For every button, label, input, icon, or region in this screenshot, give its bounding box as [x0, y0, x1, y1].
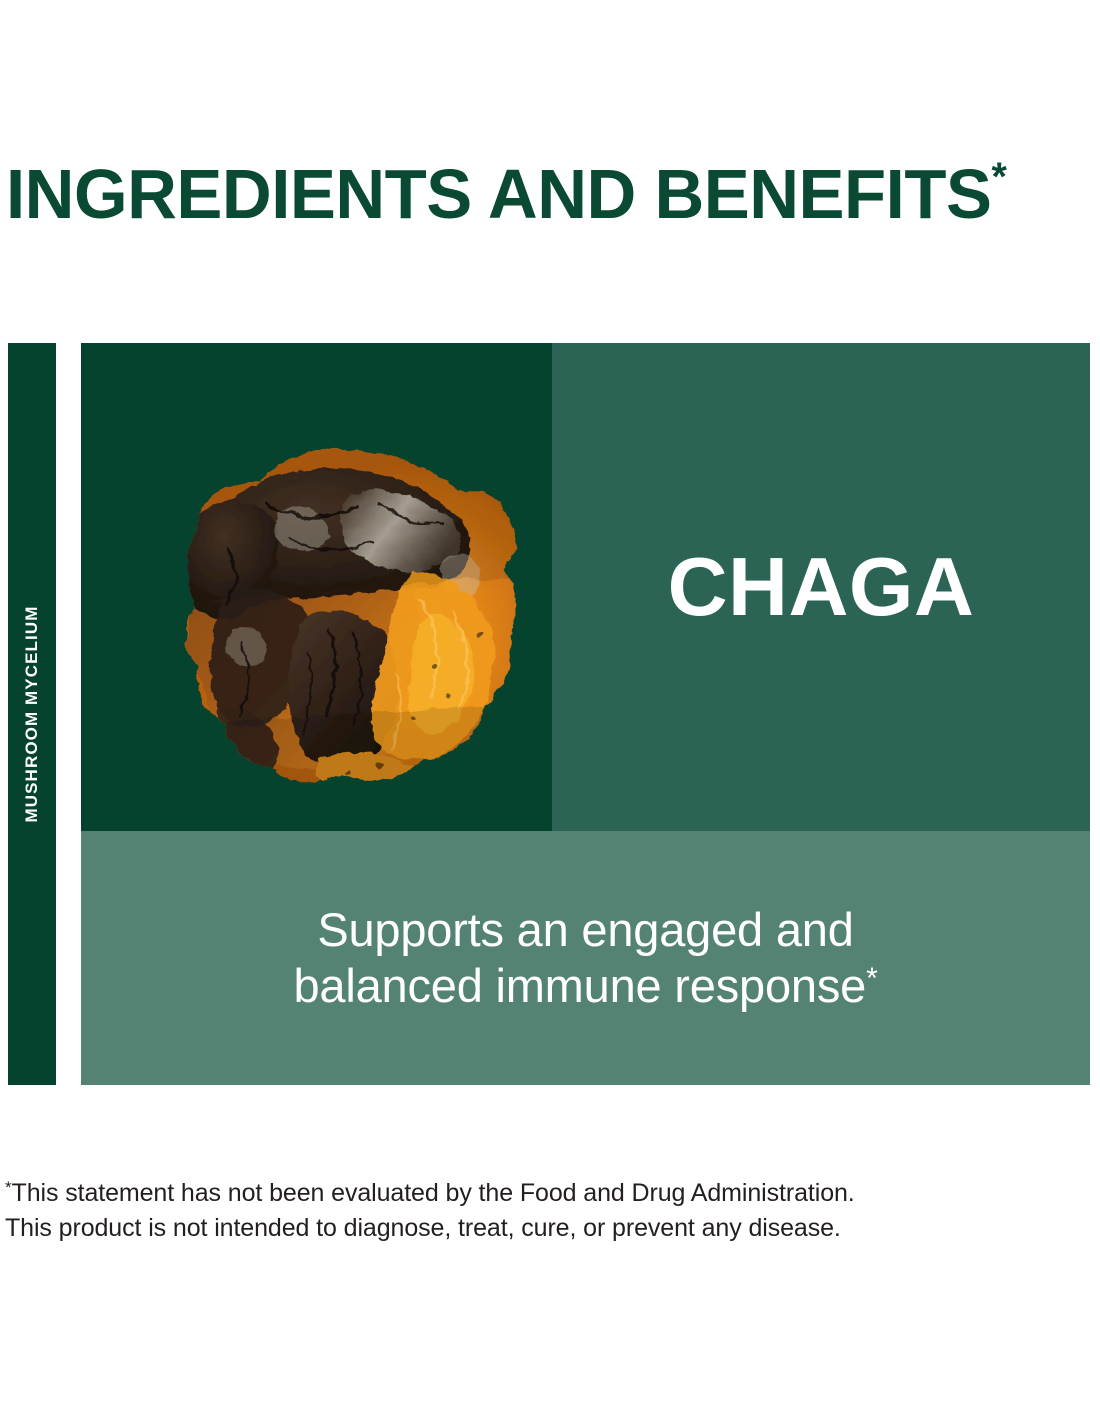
page-title: INGREDIENTS AND BENEFITS*	[6, 158, 1080, 238]
category-bar: MUSHROOM MYCELIUM	[8, 343, 56, 1085]
chaga-mushroom-photo	[81, 343, 552, 831]
legal-disclaimer-line-2: This product is not intended to diagnose…	[5, 1211, 1005, 1246]
legal-disclaimer: *This statement has not been evaluated b…	[5, 1176, 1005, 1246]
ingredient-benefit-asterisk: *	[866, 962, 877, 995]
page-title-text: INGREDIENTS AND BENEFITS	[6, 155, 991, 233]
category-bar-label: MUSHROOM MYCELIUM	[22, 605, 42, 822]
ingredient-benefit-text: Supports an engaged and balanced immune …	[196, 902, 976, 1014]
ingredient-benefit-band: Supports an engaged and balanced immune …	[81, 831, 1090, 1085]
legal-disclaimer-text-1: This statement has not been evaluated by…	[12, 1179, 855, 1207]
ingredient-card: CHAGA Supports an engaged and balanced i…	[81, 343, 1090, 1085]
page-title-asterisk: *	[991, 155, 1006, 199]
ingredient-benefit-copy: Supports an engaged and balanced immune …	[293, 903, 866, 1012]
legal-disclaimer-line-1: *This statement has not been evaluated b…	[5, 1176, 1005, 1211]
ingredient-card-upper: CHAGA	[81, 343, 1090, 831]
ingredient-name: CHAGA	[668, 545, 975, 629]
ingredient-name-area: CHAGA	[552, 343, 1090, 831]
